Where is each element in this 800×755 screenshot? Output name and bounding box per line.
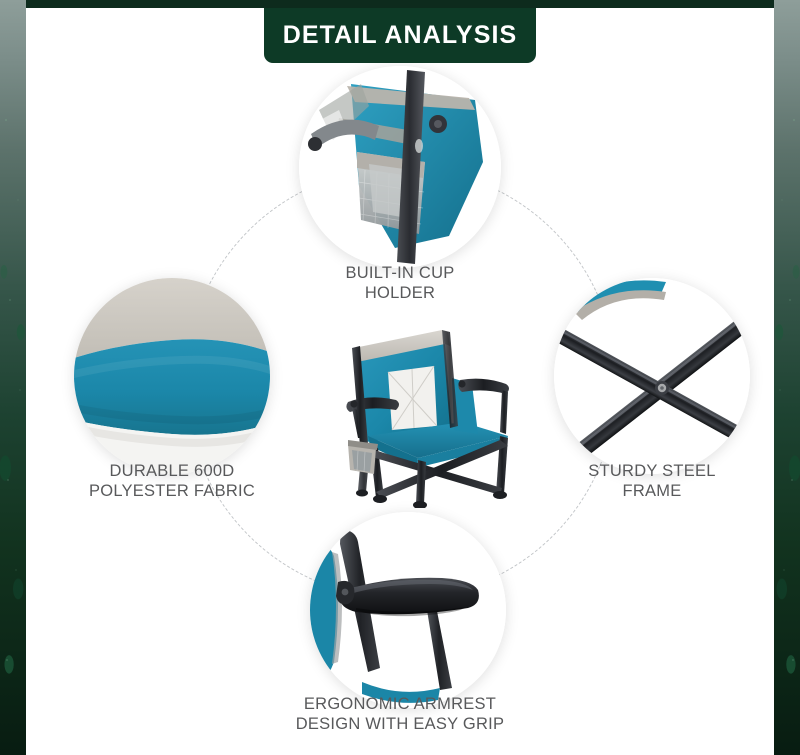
section-title-badge: DETAIL ANALYSIS — [264, 8, 536, 63]
feature-label-fabric: DURABLE 600D POLYESTER FABRIC — [44, 461, 300, 501]
content-canvas: DETAIL ANALYSIS — [26, 8, 774, 755]
feature-bubble-cup-holder[interactable] — [299, 66, 501, 268]
feature-label-cup-holder: BUILT-IN CUP HOLDER — [274, 263, 526, 303]
folding-camp-chair-illustration — [322, 318, 528, 508]
forest-texture-border-right — [774, 0, 800, 755]
hero-product-image — [322, 318, 528, 508]
feature-label-armrest: ERGONOMIC ARMREST DESIGN WITH EASY GRIP — [274, 694, 526, 734]
feature-bubble-fabric[interactable] — [74, 278, 270, 474]
feature-label-steel-frame: STURDY STEEL FRAME — [526, 461, 774, 501]
foliage-speckle-left — [0, 0, 26, 755]
polyester-fabric-photo — [74, 278, 270, 474]
foliage-speckle-right — [774, 0, 800, 755]
steel-frame-photo — [554, 278, 750, 474]
page-title: DETAIL ANALYSIS — [283, 21, 518, 50]
feature-bubble-steel-frame[interactable] — [554, 278, 750, 474]
feature-bubble-armrest[interactable] — [310, 512, 506, 708]
armrest-photo — [310, 512, 506, 708]
forest-texture-border-left — [0, 0, 26, 755]
cup-holder-photo — [299, 66, 501, 268]
